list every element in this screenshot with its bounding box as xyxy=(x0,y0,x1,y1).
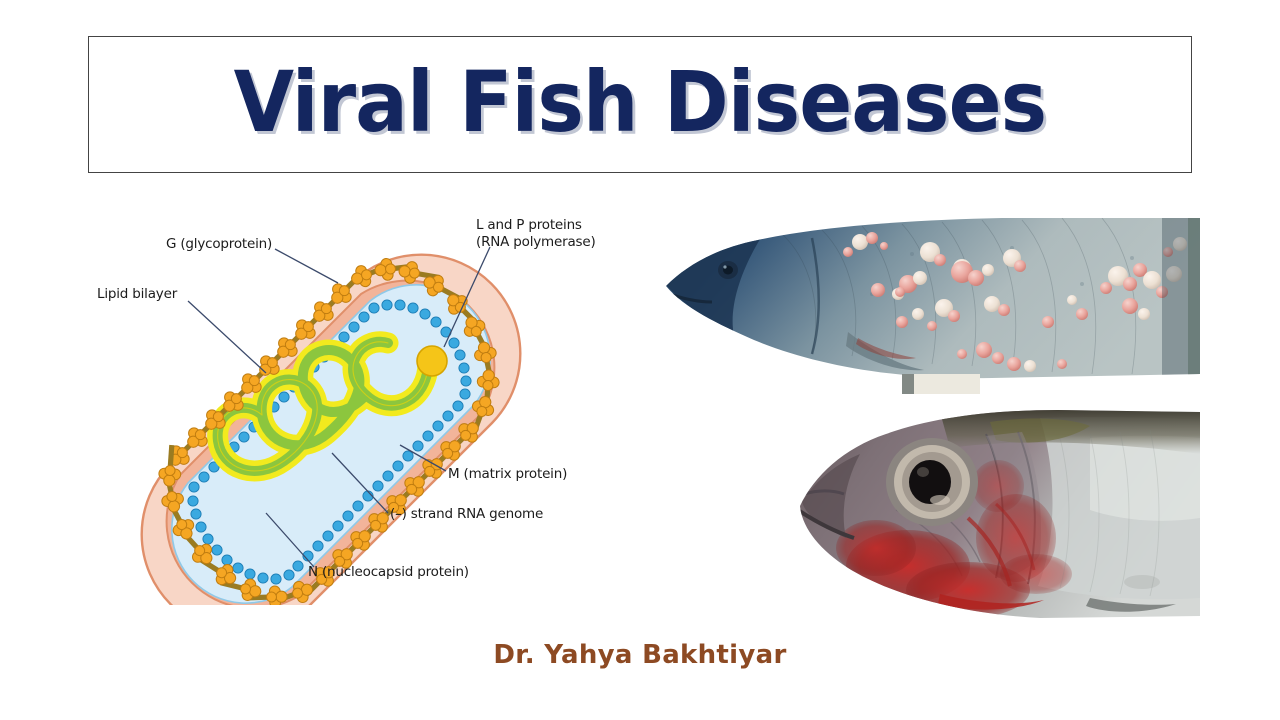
label-glycoprotein: G (glycoprotein) xyxy=(166,236,272,252)
label-lipid-bilayer: Lipid bilayer xyxy=(97,286,177,302)
fish-with-nodular-lesions-photo xyxy=(662,214,1200,394)
label-l-p-proteins-line2: (RNA polymerase) xyxy=(476,234,596,251)
fish-head-with-haemorrhage-photo xyxy=(790,398,1200,630)
polymerase-ball xyxy=(417,346,447,376)
title-box: Viral Fish Diseases xyxy=(88,36,1192,173)
label-l-p-proteins-line1: L and P proteins xyxy=(476,217,596,234)
label-matrix-protein: M (matrix protein) xyxy=(448,466,567,482)
label-l-p-proteins: L and P proteins (RNA polymerase) xyxy=(476,217,596,251)
virus-diagram: G (glycoprotein) Lipid bilayer L and P p… xyxy=(70,195,670,605)
fish-eye xyxy=(886,438,978,526)
label-nucleocapsid-protein: N (nucleocapsid protein) xyxy=(308,564,469,580)
author-credit: Dr. Yahya Bakhtiyar xyxy=(0,640,1280,670)
label-rna-genome: (–) strand RNA genome xyxy=(390,506,543,522)
rhabdovirus-illustration xyxy=(70,195,670,605)
page-title: Viral Fish Diseases xyxy=(234,60,1047,150)
